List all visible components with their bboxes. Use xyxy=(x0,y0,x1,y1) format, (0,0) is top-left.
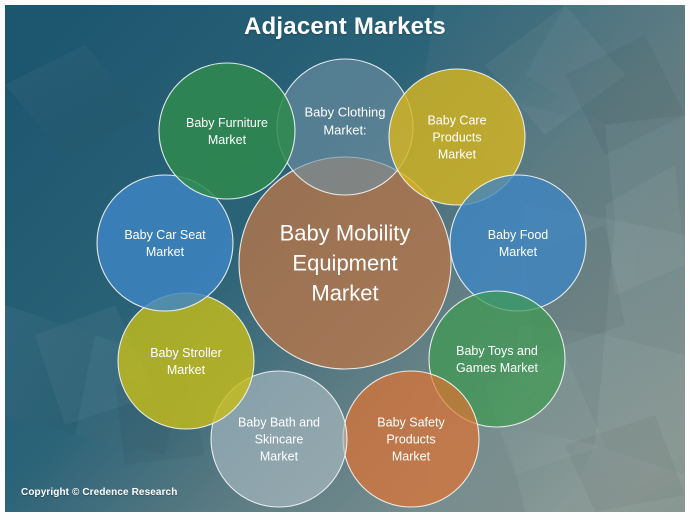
page-title: Adjacent Markets xyxy=(5,13,685,41)
baby-stroller-market-circle[interactable] xyxy=(118,293,254,429)
copyright-notice: Copyright © Credence Research xyxy=(21,487,177,498)
baby-furniture-market-circle[interactable] xyxy=(159,63,295,199)
diagram-canvas: Adjacent Markets Baby ClothingMarket:Bab… xyxy=(5,5,685,512)
baby-food-market-circle[interactable] xyxy=(450,175,586,311)
diagram-frame: Adjacent Markets Baby ClothingMarket:Bab… xyxy=(0,0,690,520)
venn-diagram: Baby ClothingMarket:Baby CareProductsMar… xyxy=(5,5,685,512)
